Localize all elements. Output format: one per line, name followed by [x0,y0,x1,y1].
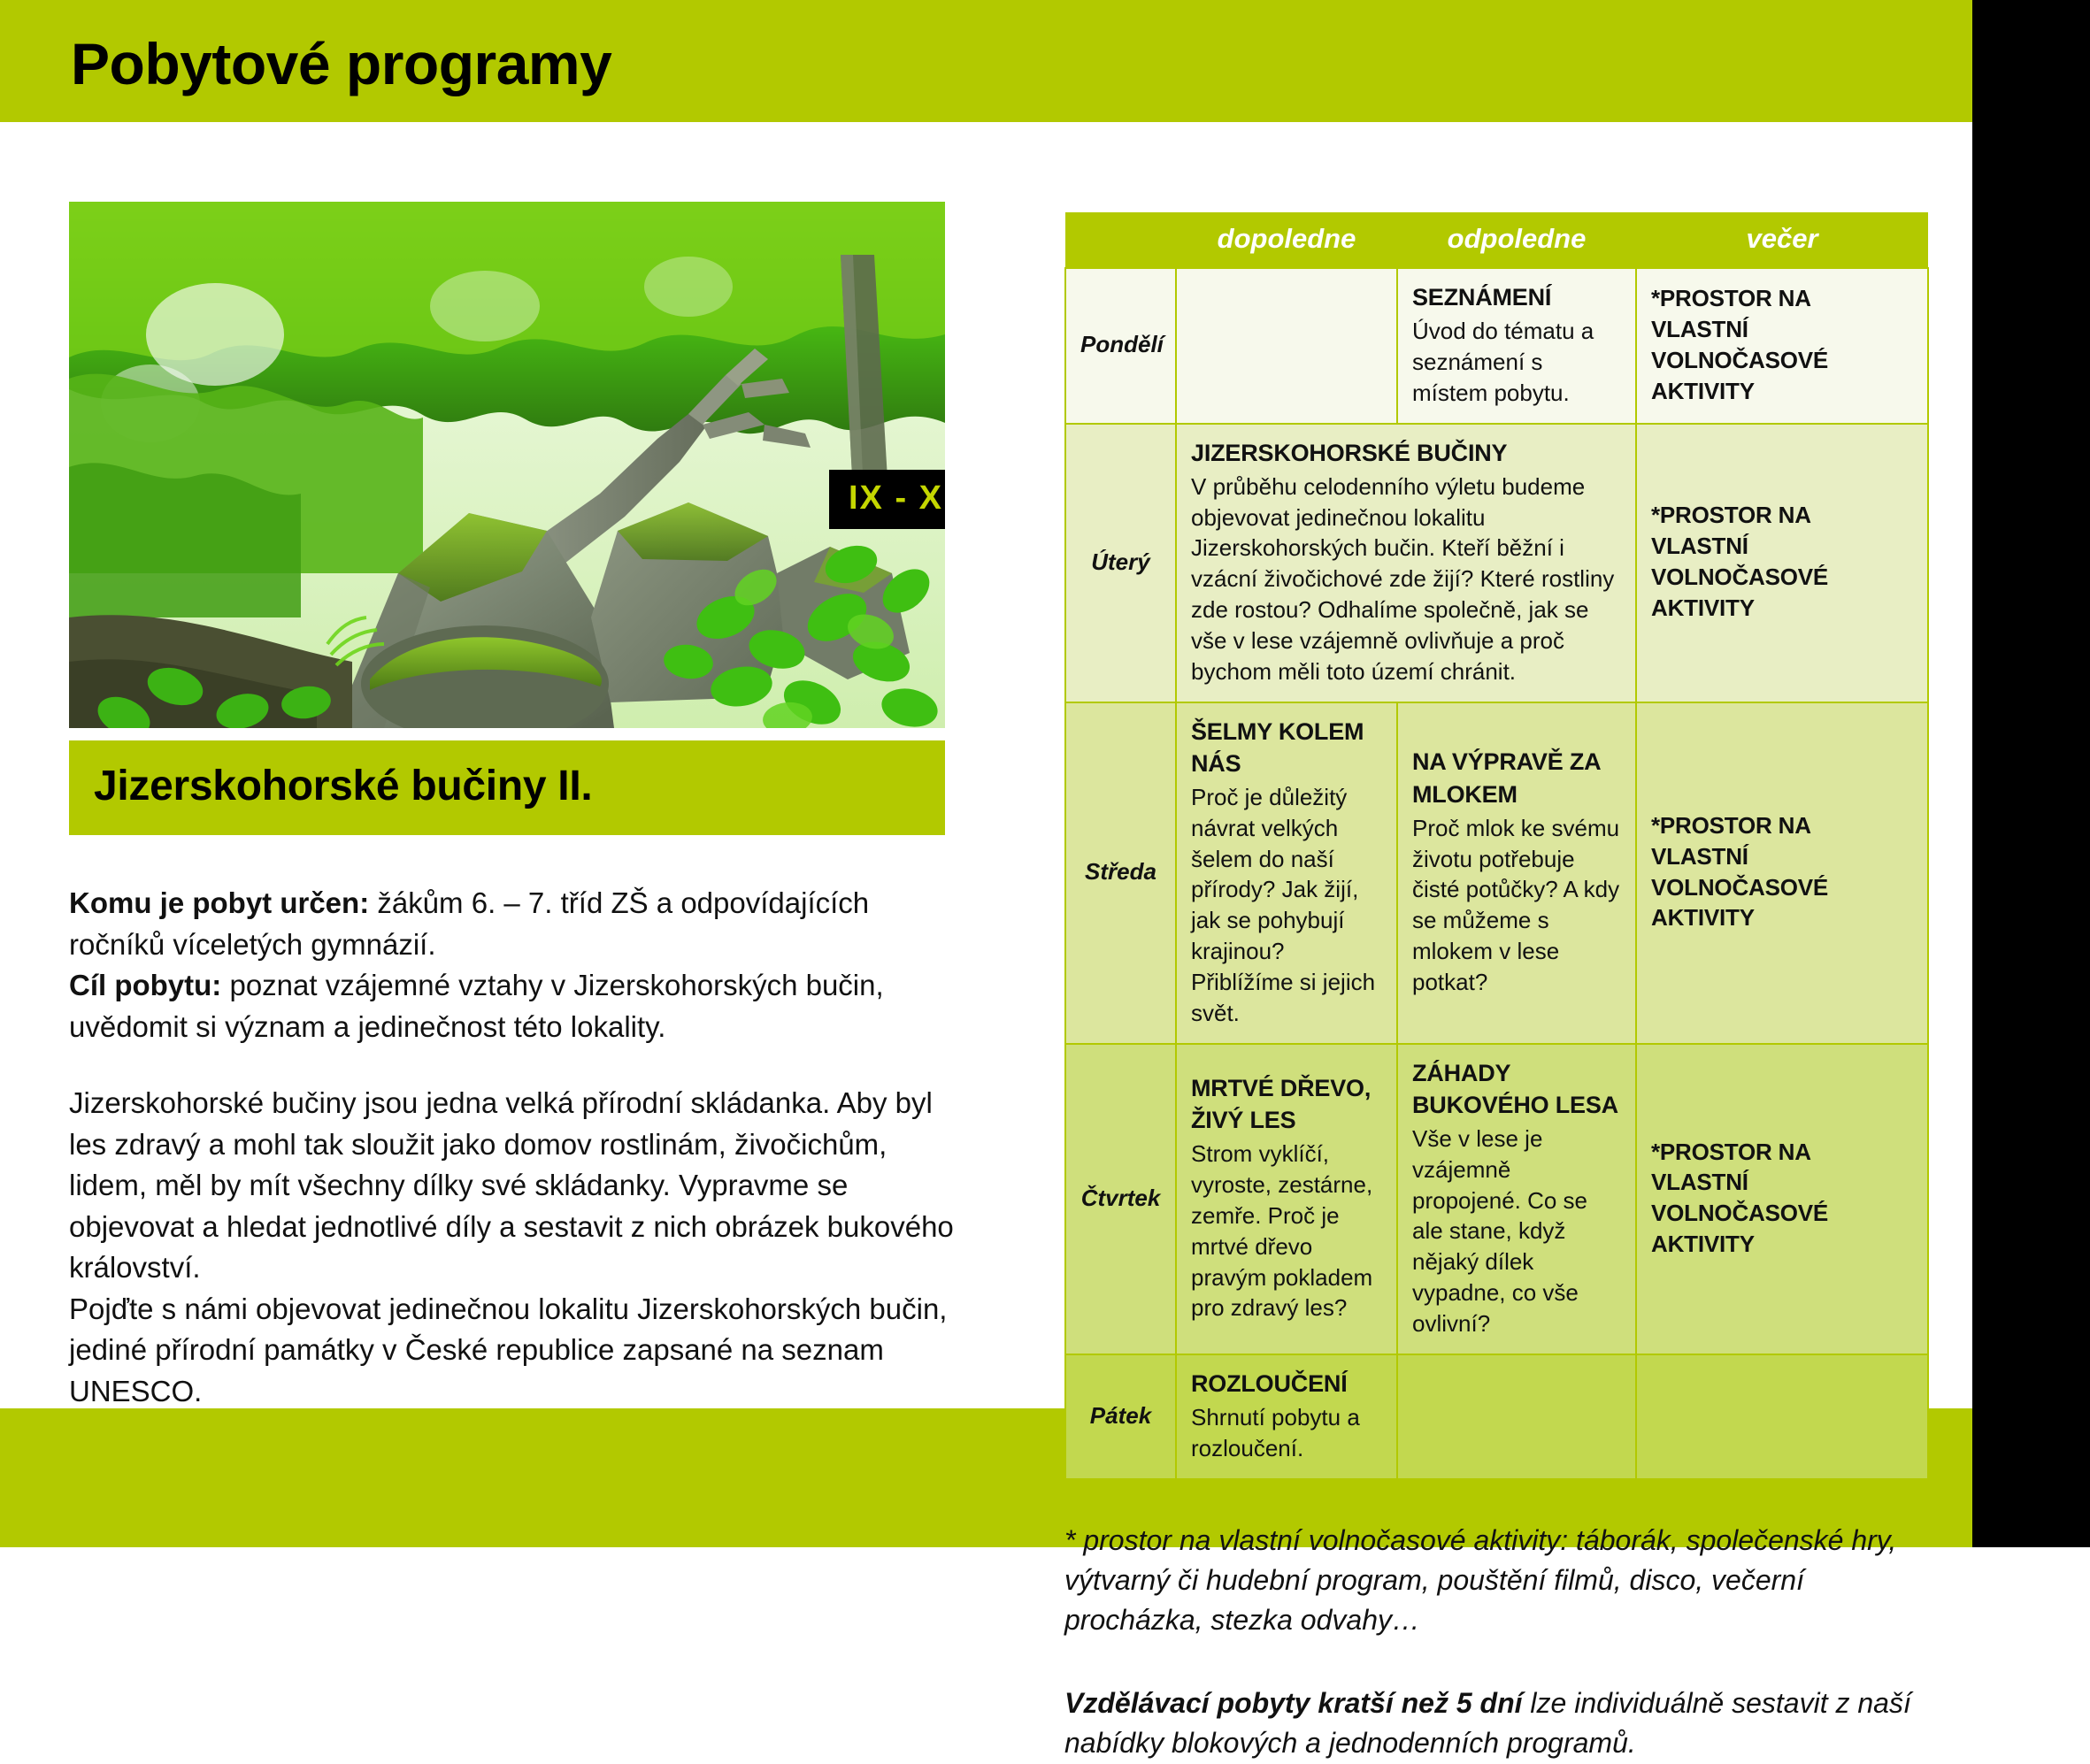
table-row: Pátek ROZLOUČENÍ Shrnutí pobytu a rozlou… [1065,1354,1928,1479]
cell-wednesday-afternoon: NA VÝPRAVĚ ZA MLOKEM Proč mlok ke svému … [1397,702,1636,1044]
description-paragraph-2: Pojďte s námi objevovat jedinečnou lokal… [69,1289,954,1413]
cell-wednesday-evening: *PROSTOR NA VLASTNÍ VOLNOČASOVÉ AKTIVITY [1636,702,1928,1044]
intro-paragraph: Komu je pobyt určen: žákům 6. – 7. tříd … [69,883,954,965]
short-stay-note: Vzdělávací pobyty kratší než 5 dní lze i… [1064,1683,1940,1764]
page-root: Pobytové programy Základní škola II. stu… [0,0,2090,1547]
col-header-evening: večer [1636,212,1928,268]
cell-title: ROZLOUČENÍ [1191,1368,1382,1400]
weekly-schedule-table: dopoledne odpoledne večer Pondělí SEZNÁM… [1064,212,1929,1480]
cell-wednesday-morning: ŠELMY KOLEM NÁS Proč je důležitý návrat … [1176,702,1397,1044]
cell-thursday-afternoon: ZÁHADY BUKOVÉHO LESA Vše v lese je vzáje… [1397,1044,1636,1354]
cell-body: Proč mlok ke svému životu potřebuje čist… [1412,813,1621,998]
cell-title: SEZNÁMENÍ [1412,281,1621,313]
footnote-text: * prostor na vlastní volnočasové aktivit… [1064,1521,1940,1641]
cell-body: Proč je důležitý návrat velkých šelem do… [1191,782,1382,1029]
cell-thursday-morning: MRTVÉ DŘEVO, ŽIVÝ LES Strom vyklíčí, vyr… [1176,1044,1397,1354]
table-row: Středa ŠELMY KOLEM NÁS Proč je důležitý … [1065,702,1928,1044]
cell-monday-afternoon: SEZNÁMENÍ Úvod do tématu a seznámení s m… [1397,268,1636,424]
day-label-wednesday: Středa [1065,702,1176,1044]
intro-label-goal: Cíl pobytu: [69,969,221,1001]
photo-caption-bar: Jizerskohorské bučiny II. [69,740,945,835]
cell-title: JIZERSKOHORSKÉ BUČINY [1191,437,1621,469]
cell-body: V průběhu celodenního výletu budeme obje… [1191,472,1621,687]
day-label-friday: Pátek [1065,1354,1176,1479]
day-label-thursday: Čtvrtek [1065,1044,1176,1354]
schedule-header-row: dopoledne odpoledne večer [1065,212,1928,268]
cell-monday-evening: *PROSTOR NA VLASTNÍ VOLNOČASOVÉ AKTIVITY [1636,268,1928,424]
schedule-notes: * prostor na vlastní volnočasové aktivit… [1064,1521,1940,1764]
description-paragraph-1: Jizerskohorské bučiny jsou jedna velká p… [69,1083,954,1289]
col-header-day [1065,212,1176,268]
hero-photo: IX - X a V - VI [69,202,945,728]
table-row: Čtvrtek MRTVÉ DŘEVO, ŽIVÝ LES Strom vykl… [1065,1044,1928,1354]
day-label-tuesday: Úterý [1065,424,1176,702]
goal-paragraph: Cíl pobytu: poznat vzájemné vztahy v Jiz… [69,965,954,1047]
col-header-afternoon: odpoledne [1397,212,1636,268]
cell-body: Vše v lese je vzájemně propojené. Co se … [1412,1124,1621,1339]
cell-monday-morning [1176,268,1397,424]
side-rail-label: Základní škola II. stupeň [1972,0,2090,133]
short-stay-note-bold: Vzdělávací pobyty kratší než 5 dní [1064,1687,1523,1719]
cell-title: ŠELMY KOLEM NÁS [1191,716,1382,779]
cell-thursday-evening: *PROSTOR NA VLASTNÍ VOLNOČASOVÉ AKTIVITY [1636,1044,1928,1354]
forest-rocks-illustration [69,202,945,728]
cell-body: Úvod do tématu a seznámení s místem poby… [1412,316,1621,408]
cell-title: NA VÝPRAVĚ ZA MLOKEM [1412,746,1621,809]
photo-caption-text: Jizerskohorské bučiny II. [94,762,920,810]
table-row: Úterý JIZERSKOHORSKÉ BUČINY V průběhu ce… [1065,424,1928,702]
cell-body: Strom vyklíčí, vyroste, zestárne, zemře.… [1191,1139,1382,1323]
left-body-copy: Komu je pobyt určen: žákům 6. – 7. tříd … [69,883,954,1412]
cell-tuesday-morning: JIZERSKOHORSKÉ BUČINY V průběhu celodenn… [1176,424,1636,702]
cell-title: MRTVÉ DŘEVO, ŽIVÝ LES [1191,1072,1382,1136]
intro-label-audience: Komu je pobyt určen: [69,886,369,919]
cell-friday-morning: ROZLOUČENÍ Shrnutí pobytu a rozloučení. [1176,1354,1397,1479]
side-rail: Základní škola II. stupeň [1972,0,2090,1547]
copy-spacer [69,1047,954,1083]
col-header-morning: dopoledne [1176,212,1397,268]
table-row: Pondělí SEZNÁMENÍ Úvod do tématu a sezná… [1065,268,1928,424]
left-column: IX - X a V - VI Jizerskohorské bučiny II… [69,202,945,1412]
day-label-monday: Pondělí [1065,268,1176,424]
cell-friday-afternoon [1397,1354,1636,1479]
cell-tuesday-evening: *PROSTOR NA VLASTNÍ VOLNOČASOVÉ AKTIVITY [1636,424,1928,702]
right-column: dopoledne odpoledne večer Pondělí SEZNÁM… [1064,212,1927,1764]
age-range-badge: IX - X a V - VI [829,470,945,529]
page-title: Pobytové programy [71,30,611,97]
cell-body: Shrnutí pobytu a rozloučení. [1191,1402,1382,1464]
cell-title: ZÁHADY BUKOVÉHO LESA [1412,1057,1621,1121]
cell-friday-evening [1636,1354,1928,1479]
